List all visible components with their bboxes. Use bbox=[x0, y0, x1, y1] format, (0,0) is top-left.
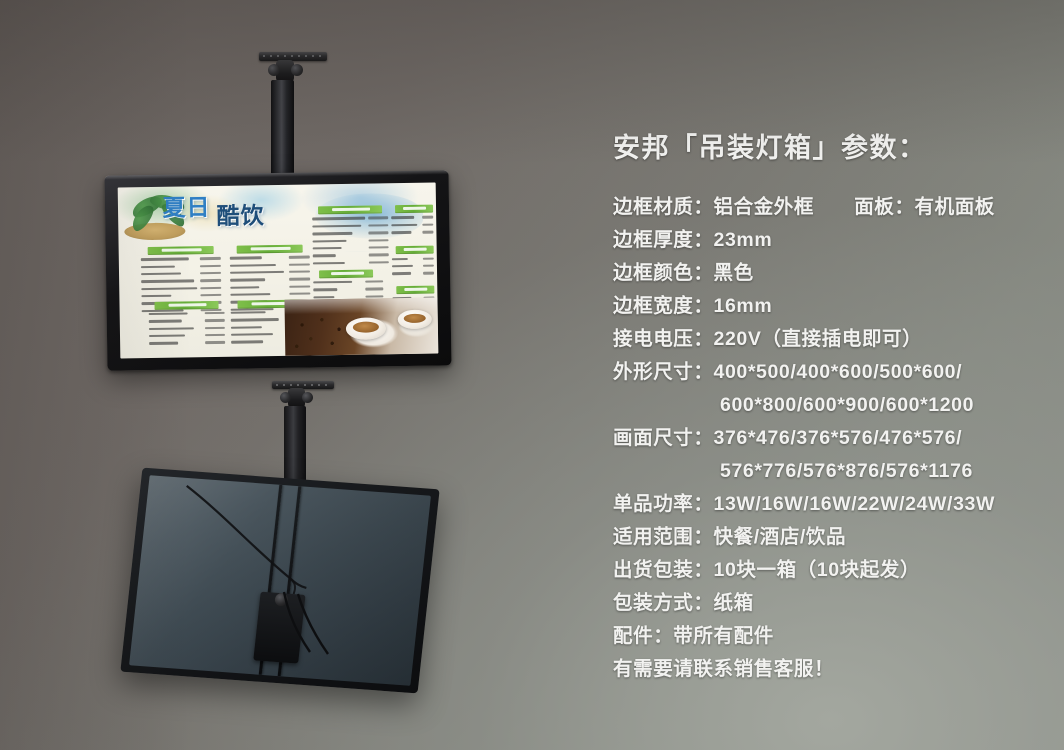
spec-line-frame-width: 边框宽度：16mm bbox=[613, 290, 1043, 323]
swivel-knob-bottom-right bbox=[302, 392, 313, 403]
spec-line-application: 适用范围：快餐/酒店/饮品 bbox=[613, 521, 1043, 554]
spec-line-voltage: 接电电压：220V（直接插电即可） bbox=[613, 323, 1043, 356]
poster-section-header-5 bbox=[318, 206, 382, 215]
spec-line-shipping-package: 出货包装：10块一箱（10块起发） bbox=[613, 554, 1043, 587]
spec-line-packing-method: 包装方式：纸箱 bbox=[613, 587, 1043, 620]
poster-section-header-3 bbox=[154, 301, 218, 310]
poster-headline: 夏日酷饮 bbox=[162, 195, 315, 238]
specification-panel: 安邦「吊装灯箱」参数： 边框材质：铝合金外框 面板：有机面板 边框厚度：23mm… bbox=[613, 126, 1043, 686]
poster-section-header-8 bbox=[395, 246, 433, 255]
coffee-crema-back bbox=[404, 313, 426, 323]
spec-line-frame-material: 边框材质：铝合金外框 面板：有机面板 bbox=[613, 191, 1043, 224]
plate-screw-holes bbox=[263, 55, 323, 57]
coffee-cup-back bbox=[398, 310, 432, 330]
poster-menu-column-5 bbox=[312, 216, 389, 269]
swivel-knob-top-right bbox=[291, 64, 303, 76]
spec-line-outer-size: 外形尺寸：400*500/400*600/500*600/ bbox=[613, 356, 1043, 389]
spec-line-outer-size-cont: 600*800/600*900/600*1200 bbox=[613, 389, 1043, 422]
poster-section-header-2 bbox=[236, 244, 303, 253]
product-showcase-image: 夏日酷饮 bbox=[0, 0, 1064, 750]
poster-section-header-7 bbox=[319, 269, 373, 278]
cable-tails bbox=[240, 590, 380, 670]
swivel-knob-bottom-left bbox=[280, 392, 291, 403]
ceiling-plate-top bbox=[259, 52, 327, 61]
coffee-cup-front bbox=[346, 317, 386, 340]
spec-title: 安邦「吊装灯箱」参数： bbox=[613, 126, 1043, 165]
spec-line-power: 单品功率：13W/16W/16W/22W/24W/33W bbox=[613, 488, 1043, 521]
poster-headline-part2: 酷饮 bbox=[216, 204, 264, 228]
menu-poster: 夏日酷饮 bbox=[118, 183, 439, 359]
poster-menu-column-3 bbox=[148, 311, 225, 349]
poster-section-header-9 bbox=[396, 285, 434, 294]
spec-line-display-size-cont: 576*776/576*876/576*1176 bbox=[613, 455, 1043, 488]
swivel-knob-top-left bbox=[268, 64, 280, 76]
spec-line-frame-color: 边框颜色：黑色 bbox=[613, 257, 1043, 290]
spec-line-contact-sales: 有需要请联系销售客服！ bbox=[613, 653, 1043, 686]
plate-screw-holes-bottom bbox=[276, 384, 331, 386]
drop-pole-top bbox=[271, 80, 294, 176]
spec-line-accessories: 配件：带所有配件 bbox=[613, 620, 1043, 653]
coffee-crema bbox=[353, 322, 379, 333]
poster-section-header-1 bbox=[147, 246, 214, 255]
poster-menu-column-8 bbox=[392, 256, 434, 279]
spec-line-display-size: 画面尺寸：376*476/376*576/476*576/ bbox=[613, 422, 1043, 455]
poster-coffee-photo bbox=[285, 297, 438, 356]
poster-headline-part1: 夏日 bbox=[162, 194, 210, 221]
poster-section-header-6 bbox=[395, 205, 433, 214]
spec-line-frame-thickness: 边框厚度：23mm bbox=[613, 224, 1043, 257]
lightbox-front-face: 夏日酷饮 bbox=[104, 170, 451, 370]
poster-menu-column-6 bbox=[392, 215, 434, 238]
